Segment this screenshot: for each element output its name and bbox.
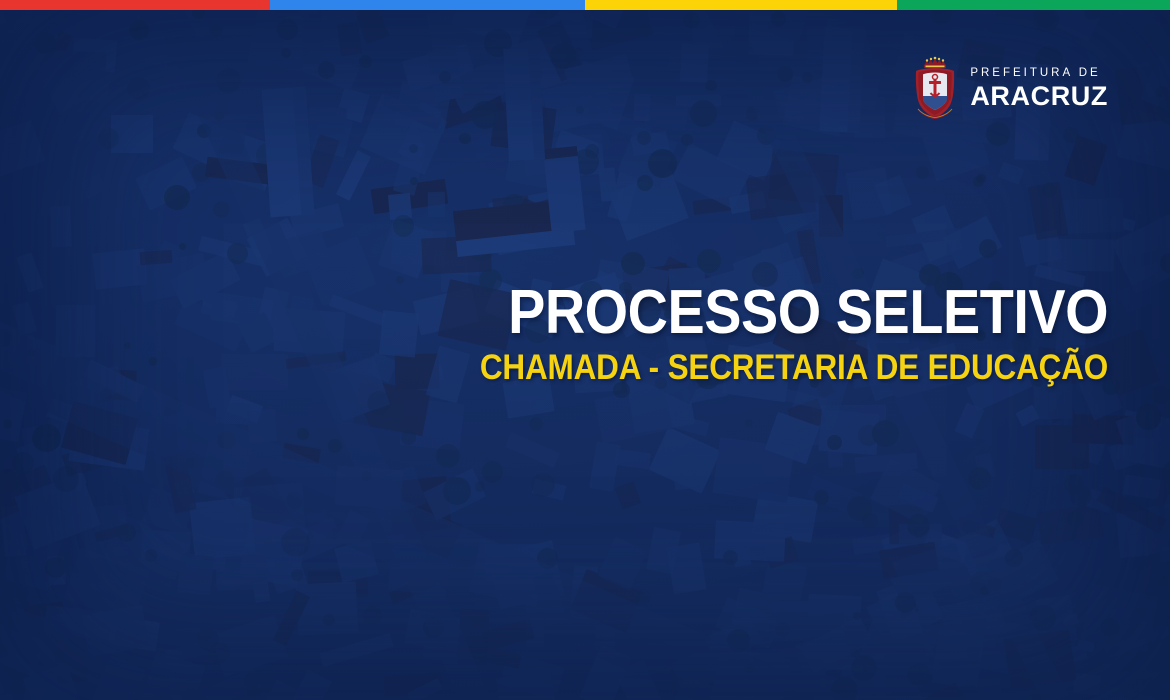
- prefeitura-logo: PREFEITURA DE ARACRUZ: [912, 56, 1108, 122]
- logo-wordmark: PREFEITURA DE ARACRUZ: [970, 68, 1108, 111]
- top-color-bar: [0, 0, 1170, 10]
- color-bar-red: [0, 0, 270, 10]
- processo-seletivo-banner: PREFEITURA DE ARACRUZ PROCESSO SELETIVO …: [0, 0, 1170, 700]
- page-title: PROCESSO SELETIVO: [480, 283, 1108, 344]
- logo-city-text: ARACRUZ: [970, 83, 1108, 110]
- color-bar-yellow: [585, 0, 897, 10]
- aracruz-coat-of-arms-icon: [912, 56, 958, 122]
- color-bar-blue: [270, 0, 585, 10]
- logo-prefix-text: PREFEITURA DE: [970, 68, 1108, 80]
- headline-block: PROCESSO SELETIVO CHAMADA - SECRETARIA D…: [410, 283, 1108, 385]
- page-subtitle: CHAMADA - SECRETARIA DE EDUCAÇÃO: [480, 350, 1108, 385]
- color-bar-green: [897, 0, 1170, 10]
